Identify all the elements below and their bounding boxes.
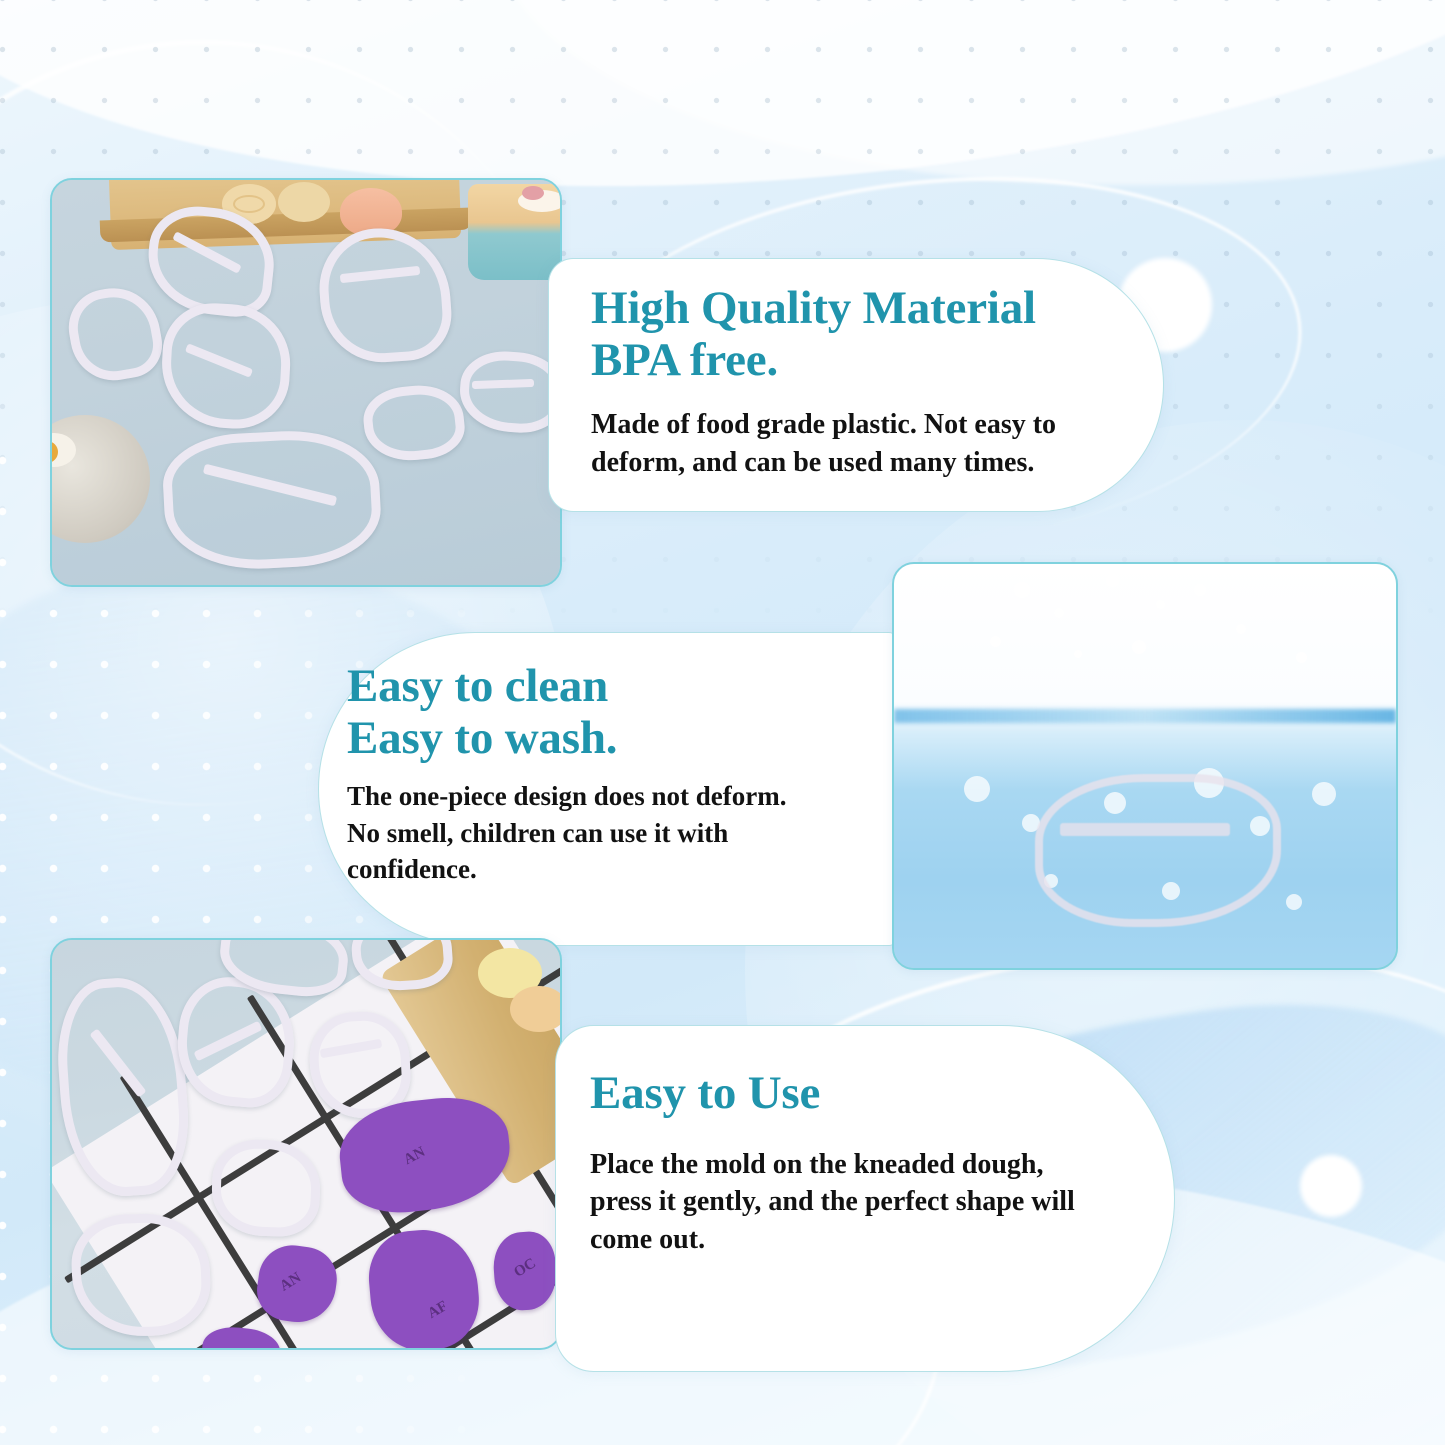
feature-2-title-line-1: Easy to clean [347,661,873,713]
orange-macaron [510,986,560,1032]
feature-text-card-high-quality-material: High Quality Material BPA free. Made of … [548,258,1164,512]
splash-droplet-1 [1014,582,1030,598]
photo-molds-on-table [52,180,560,585]
splash-droplet-9 [1132,640,1146,654]
splash-droplet-5 [1194,584,1206,596]
bubble-1 [964,776,990,802]
feature-text-card-easy-to-use: Easy to Use Place the mold on the kneade… [555,1025,1175,1372]
photo-mold-in-water [894,564,1396,968]
splash-droplet-2 [1054,608,1064,618]
splash-droplet-7 [1236,624,1246,634]
mold-shape-africa [315,224,454,367]
feature-1-title-line-1: High Quality Material [591,283,1093,335]
bubble-6 [1312,782,1336,806]
cupcake-berry [522,186,544,200]
top-wave-shape-2 [483,0,1445,235]
mold-shape-europe [63,281,168,387]
feature-2-body-line-2: No smell, children can use it with [347,815,873,851]
feature-image-easy-to-use: AN AF AN OC [50,938,562,1350]
white-circle-decoration-2 [1300,1155,1362,1217]
splash-droplet-10 [1296,652,1307,663]
infographic-canvas: High Quality Material BPA free. Made of … [0,0,1445,1445]
submerged-mold-shape [1035,774,1282,927]
mold-shape-oceania [360,381,467,465]
feature-3-title-line-1: Easy to Use [590,1068,1094,1120]
feature-2-title-line-2: Easy to wash. [347,713,873,765]
mold-shape-antarctica [161,426,384,573]
bubble-9 [1286,894,1302,910]
sponge-prop [52,415,150,543]
donut-pastry-2 [278,182,330,222]
mold-shape-asia [457,348,560,435]
water-surface-line [894,709,1396,723]
feature-1-body: Made of food grade plastic. Not easy to … [591,406,1093,481]
feature-image-high-quality-material [50,178,562,587]
splash-droplet-8 [1074,650,1082,658]
feature-2-body-line-1: The one-piece design does not deform. [347,778,873,814]
feature-3-body: Place the mold on the kneaded dough, pre… [590,1146,1094,1259]
splash-droplet-6 [990,636,1001,647]
feature-image-easy-to-clean [892,562,1398,970]
cupcake [468,184,560,280]
submerged-mold-bar [1060,823,1231,836]
photo-dough-and-molds: AN AF AN OC [52,940,560,1348]
splash-droplet-3 [1106,574,1119,587]
mold-shape-oceania-2 [70,1212,212,1339]
feature-2-body-line-3: confidence. [347,851,873,887]
splash-droplet-4 [1156,600,1165,609]
feature-1-title-line-2: BPA free. [591,335,1093,387]
feature-text-card-easy-to-clean: Easy to clean Easy to wash. The one-piec… [318,632,898,946]
